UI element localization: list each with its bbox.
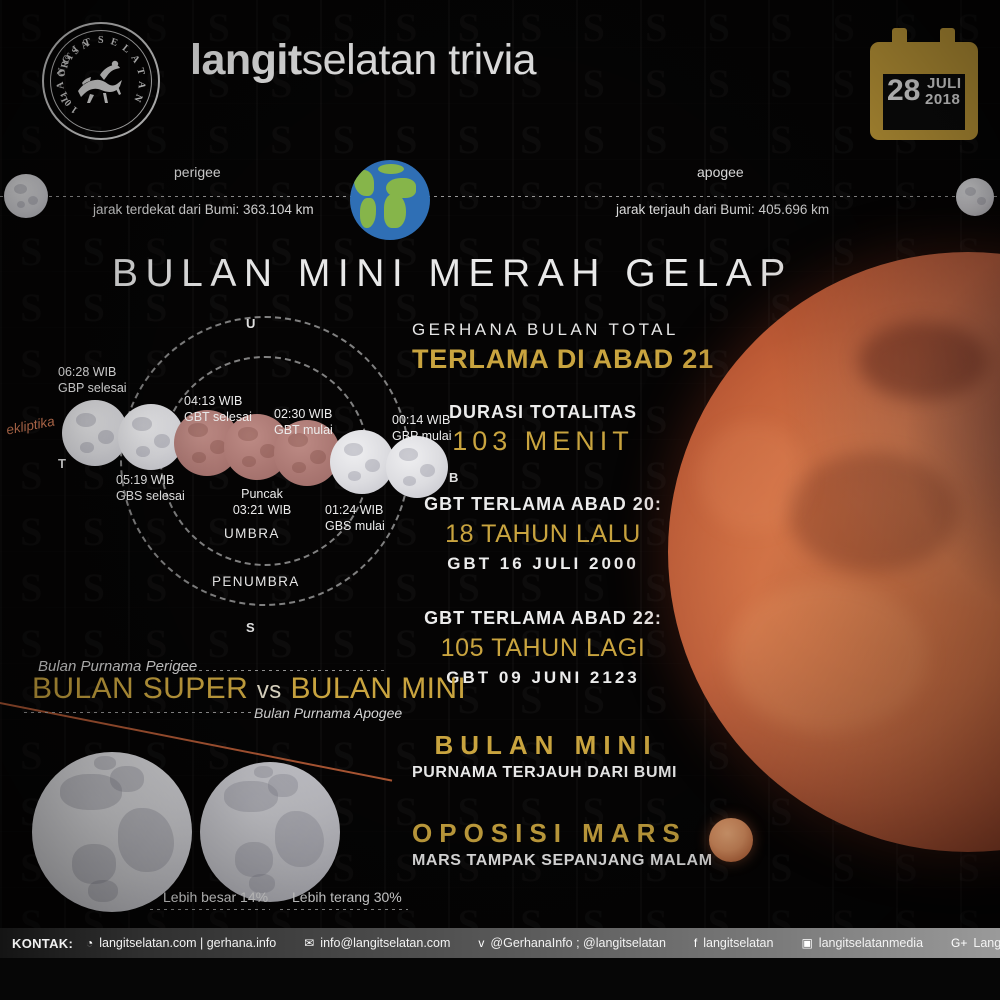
phase-event: GBT mulai bbox=[274, 423, 333, 437]
brand-light: selatan bbox=[302, 36, 437, 84]
peak-text: Puncak bbox=[241, 487, 283, 501]
brighter-dotted-rule bbox=[280, 909, 408, 910]
facebook-icon: f bbox=[694, 936, 697, 950]
brighter-label: Lebih terang 30% bbox=[292, 889, 402, 905]
minimoon-subtitle: PURNAMA TERJAUH DARI BUMI bbox=[412, 764, 674, 782]
brand-bold: langit bbox=[190, 36, 302, 84]
perigee-moon bbox=[4, 174, 48, 218]
phase-time: 01:24 WIB bbox=[325, 503, 383, 517]
duration-value: 103 MENIT bbox=[412, 426, 674, 457]
phase-time: 06:28 WIB bbox=[58, 365, 116, 379]
blood-moon-image bbox=[668, 252, 1000, 852]
contact-item-text: @GerhanaInfo ; @langitselatan bbox=[490, 936, 665, 950]
phase-event: GBS selesai bbox=[116, 489, 185, 503]
phase-event: GBT selesai bbox=[184, 410, 252, 424]
contact-item[interactable]: flangitselatan bbox=[694, 936, 774, 950]
phase-label-gbs-mulai: 01:24 WIB GBS mulai bbox=[325, 502, 385, 534]
calendar-month: JULI bbox=[927, 76, 962, 91]
watermark-glyph: S bbox=[750, 56, 813, 112]
apogee-distance: jarak terjauh dari Bumi: 405.696 km bbox=[616, 202, 829, 217]
century22-label: GBT TERLAMA ABAD 22: bbox=[412, 608, 674, 629]
contact-item-text: langitselatan bbox=[703, 936, 773, 950]
perigee-distance: jarak terdekat dari Bumi: 363.104 km bbox=[93, 202, 314, 217]
peak-label: Puncak 03:21 WIB bbox=[227, 486, 297, 518]
watermark-glyph: S bbox=[750, 0, 813, 56]
logo-ring-char: A bbox=[135, 81, 147, 90]
calendar-year: 2018 bbox=[925, 92, 960, 107]
googleplus-icon: G+ bbox=[951, 936, 967, 950]
email-icon: ✉ bbox=[304, 936, 314, 950]
minimoon-title: BULAN MINI bbox=[412, 730, 680, 761]
blood-moon-mare bbox=[788, 452, 958, 572]
apogee-moon bbox=[956, 178, 994, 216]
logo-ring-char: E bbox=[109, 36, 119, 49]
orbit-dotted-line bbox=[0, 196, 1000, 198]
watermark-glyph: S bbox=[250, 112, 313, 168]
watermark-glyph: S bbox=[688, 112, 751, 168]
blood-moon-highlight bbox=[728, 582, 928, 732]
logo-ring-char: S bbox=[98, 35, 104, 46]
contact-items: ◔langitselatan.com | gerhana.info✉info@l… bbox=[86, 928, 1000, 958]
watermark-glyph: S bbox=[0, 224, 63, 280]
axis-label-b: B bbox=[449, 470, 458, 485]
compare-headline-left: BULAN SUPER bbox=[32, 672, 248, 705]
century20-value: 18 TAHUN LALU bbox=[412, 520, 674, 549]
footer-bottom-band bbox=[0, 958, 1000, 1000]
axis-label-u: U bbox=[246, 316, 255, 331]
contact-item[interactable]: ✉info@langitselatan.com bbox=[304, 936, 450, 950]
eclipse-kicker: GERHANA BULAN TOTAL bbox=[412, 320, 674, 340]
contact-label: KONTAK: bbox=[12, 928, 73, 958]
watermark-glyph: S bbox=[813, 56, 876, 112]
contact-footer-bar: KONTAK: ◔langitselatan.com | gerhana.inf… bbox=[0, 928, 1000, 958]
earth-landmass bbox=[378, 164, 404, 174]
watermark-glyph: S bbox=[188, 112, 251, 168]
watermark-glyph: S bbox=[688, 0, 751, 56]
century22-value: 105 TAHUN LAGI bbox=[412, 634, 674, 663]
peak-time: 03:21 WIB bbox=[233, 503, 291, 517]
apogee-label: apogee bbox=[697, 164, 744, 180]
mars-opposition-subtitle: MARS TAMPAK SEPANJANG MALAM bbox=[412, 852, 674, 870]
logo-ring-char: A bbox=[55, 81, 67, 90]
page-title: BULAN MINI MERAH GELAP bbox=[112, 252, 793, 296]
phase-event: GBS mulai bbox=[325, 519, 385, 533]
umbra-label: UMBRA bbox=[224, 526, 280, 541]
brand-trivia: trivia bbox=[448, 36, 536, 84]
compare-headline: BULAN SUPER vs BULAN MINI bbox=[32, 672, 466, 706]
ecliptic-label: ekliptika bbox=[5, 413, 56, 437]
watermark-glyph: S bbox=[0, 728, 63, 784]
calendar-body: 28 JULI 2018 bbox=[870, 42, 978, 140]
blood-moon-highlight bbox=[698, 422, 808, 532]
contact-item[interactable]: ▣langitselatanmedia bbox=[801, 936, 923, 950]
watermark-glyph: S bbox=[500, 112, 563, 168]
minimoon-disc bbox=[200, 762, 340, 902]
twitter-icon: ᴠ bbox=[478, 936, 484, 950]
contact-item-text: langitselatan.com | gerhana.info bbox=[99, 936, 276, 950]
phase-event: GBP selesai bbox=[58, 381, 127, 395]
blood-moon-mare bbox=[858, 322, 988, 400]
penumbra-label: PENUMBRA bbox=[212, 574, 300, 589]
logo-horse-rider-icon bbox=[70, 53, 132, 109]
calendar-badge: 28 JULI 2018 bbox=[870, 28, 978, 140]
calendar-day: 28 bbox=[887, 76, 920, 106]
earth-landmass bbox=[354, 170, 374, 196]
logo-ring-char: O bbox=[57, 69, 68, 77]
compare-headline-vs: vs bbox=[257, 677, 282, 704]
eclipse-path-diagram: U S T B ekliptika bbox=[0, 300, 470, 650]
watermark-glyph: S bbox=[563, 0, 626, 56]
watermark-glyph: S bbox=[813, 840, 876, 896]
contact-item[interactable]: ᴠ@GerhanaInfo ; @langitselatan bbox=[478, 936, 665, 950]
century20-label: GBT TERLAMA ABAD 20: bbox=[412, 494, 674, 515]
earth-globe bbox=[350, 160, 430, 240]
mars-opposition-title: OPOSISI MARS bbox=[412, 818, 680, 849]
brand-wordmark: langitselatan trivia bbox=[190, 34, 536, 86]
watermark-glyph: S bbox=[625, 112, 688, 168]
phase-time: 02:30 WIB bbox=[274, 407, 332, 421]
eclipse-phase-moon bbox=[330, 430, 394, 494]
axis-label-t: T bbox=[58, 456, 66, 471]
phase-time: 05:19 WIB bbox=[116, 473, 174, 487]
duration-label: DURASI TOTALITAS bbox=[412, 402, 674, 423]
contact-item-text: info@langitselatan.com bbox=[320, 936, 450, 950]
watermark-glyph: S bbox=[563, 112, 626, 168]
watermark-glyph: S bbox=[625, 0, 688, 56]
compare-headline-right: BULAN MINI bbox=[290, 672, 466, 705]
watermark-glyph: S bbox=[813, 112, 876, 168]
caption-dotted-rule-bottom bbox=[24, 712, 252, 713]
langitselatan-logo: LANGITSELATANASTRO 101 bbox=[42, 22, 160, 140]
contact-item[interactable]: G+LangitselatanMedia bbox=[951, 936, 1000, 950]
instagram-icon: ▣ bbox=[801, 936, 812, 950]
phase-label-gbt-mulai: 02:30 WIB GBT mulai bbox=[274, 406, 333, 438]
perigee-label: perigee bbox=[174, 164, 221, 180]
bigger-dotted-rule bbox=[150, 909, 270, 910]
contact-item-text: langitselatanmedia bbox=[819, 936, 923, 950]
watermark-glyph: S bbox=[688, 56, 751, 112]
phase-label-gbp-selesai: 06:28 WIB GBP selesai bbox=[58, 364, 127, 396]
phase-label-gbs-selesai: 05:19 WIB GBS selesai bbox=[116, 472, 185, 504]
contact-item-text: LangitselatanMedia bbox=[973, 936, 1000, 950]
century20-date: GBT 16 JULI 2000 bbox=[412, 554, 674, 574]
watermark-glyph: S bbox=[750, 112, 813, 168]
axis-label-s: S bbox=[246, 620, 255, 635]
watermark-glyph: S bbox=[625, 56, 688, 112]
rss-icon: ◔ bbox=[86, 936, 93, 950]
supermoon-disc bbox=[32, 752, 192, 912]
watermark-glyph: S bbox=[813, 0, 876, 56]
earth-landmass bbox=[384, 194, 406, 228]
earth-landmass bbox=[360, 198, 376, 228]
contact-item[interactable]: ◔langitselatan.com | gerhana.info bbox=[86, 936, 276, 950]
phase-label-gbt-selesai: 04:13 WIB GBT selesai bbox=[184, 393, 252, 425]
minimoon-caption: Bulan Purnama Apogee bbox=[254, 705, 402, 721]
watermark-glyph: S bbox=[750, 840, 813, 896]
eclipse-headline: TERLAMA DI ABAD 21 bbox=[412, 344, 674, 375]
watermark-glyph: S bbox=[563, 56, 626, 112]
watermark-glyph: S bbox=[313, 112, 376, 168]
caption-dotted-rule-top bbox=[178, 670, 388, 671]
bigger-label: Lebih besar 14% bbox=[163, 889, 268, 905]
logo-ring-char: T bbox=[134, 67, 146, 77]
mars-disc bbox=[709, 818, 753, 862]
watermark-glyph: S bbox=[438, 112, 501, 168]
phase-time: 04:13 WIB bbox=[184, 394, 242, 408]
logo-ring-char: N bbox=[131, 92, 144, 104]
infographic-canvas: SSSSSSSSSSSSSSSSSSSSSSSSSSSSSSSSSSSSSSSS… bbox=[0, 0, 1000, 1000]
